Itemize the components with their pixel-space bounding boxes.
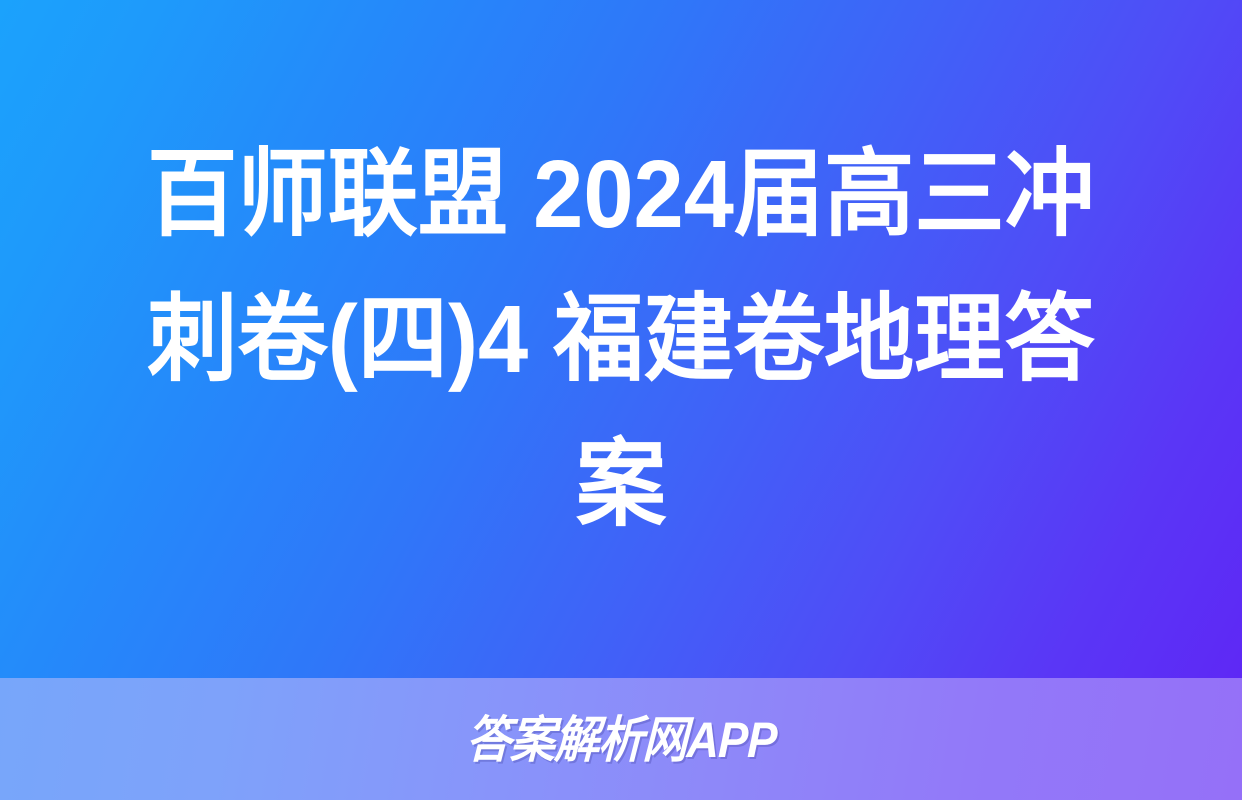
brand-watermark: 答案解析网APP [465, 715, 777, 765]
footer-banner: 答案解析网APP [0, 678, 1242, 800]
page-title: 百师联盟 2024届高三冲刺卷(四)4 福建卷地理答案 [113, 122, 1128, 557]
hero-banner: 百师联盟 2024届高三冲刺卷(四)4 福建卷地理答案 [0, 0, 1242, 678]
poster-root: 百师联盟 2024届高三冲刺卷(四)4 福建卷地理答案 答案解析网APP [0, 0, 1242, 800]
